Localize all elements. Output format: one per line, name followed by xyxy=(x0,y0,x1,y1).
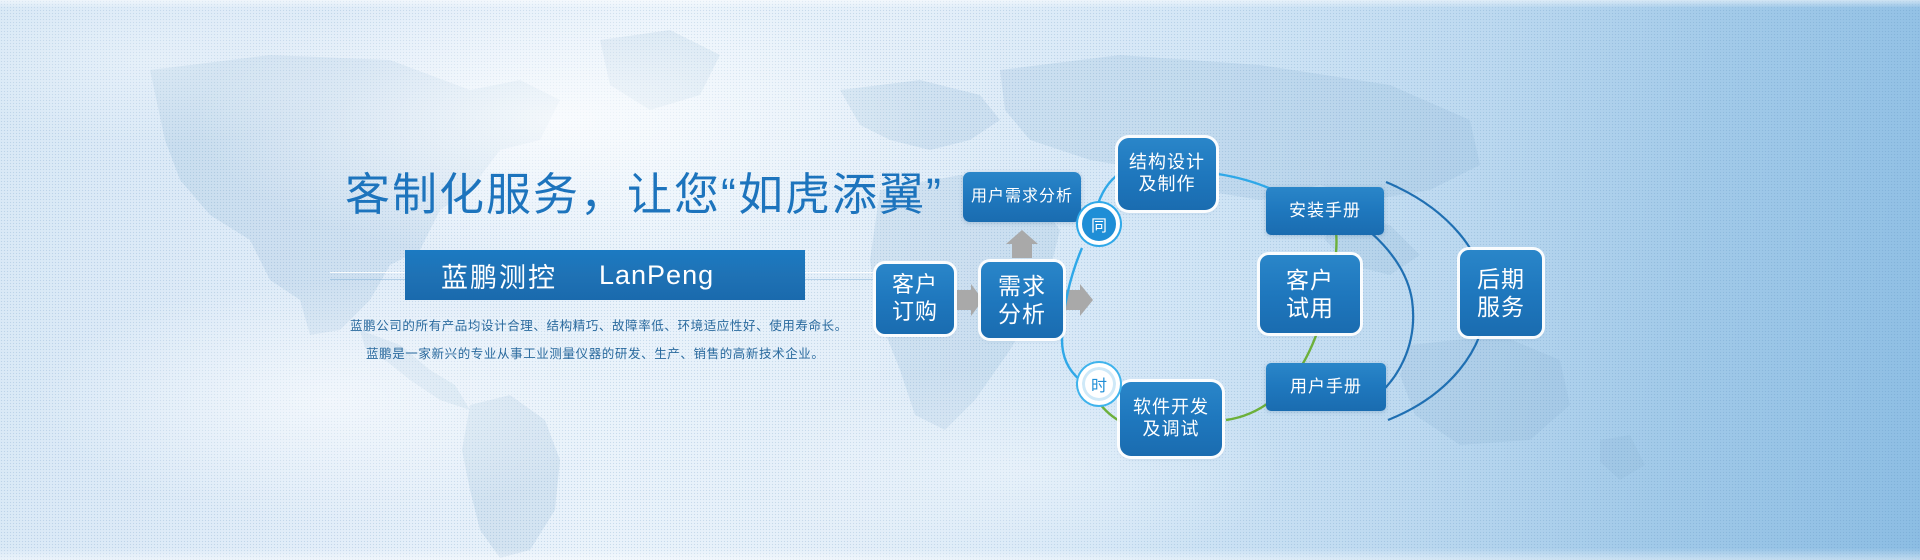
flow-connectors xyxy=(0,0,1920,560)
node-structural-design[interactable]: 结构设计 及制作 xyxy=(1118,138,1216,210)
process-flow-diagram: 用户需求分析 客户 订购 需求 分析 结构设计 及制作 安装手册 客 xyxy=(0,0,1920,560)
node-label: 需求 分析 xyxy=(998,272,1046,328)
node-after-sales-service[interactable]: 后期 服务 xyxy=(1460,250,1542,336)
node-label: 后期 服务 xyxy=(1477,265,1525,321)
node-label: 软件开发 及调试 xyxy=(1133,397,1209,441)
node-label: 结构设计 及制作 xyxy=(1129,152,1205,196)
node-label: 安装手册 xyxy=(1289,201,1361,222)
node-label: 用户手册 xyxy=(1290,377,1362,398)
node-installation-manual[interactable]: 安装手册 xyxy=(1266,187,1384,235)
node-customer-trial[interactable]: 客户 试用 xyxy=(1260,255,1360,333)
node-label: 客户 试用 xyxy=(1286,266,1334,322)
badge-label: 时 xyxy=(1091,372,1107,396)
node-user-requirement-analysis[interactable]: 用户需求分析 xyxy=(963,172,1081,222)
node-software-development[interactable]: 软件开发 及调试 xyxy=(1120,382,1222,456)
node-label: 用户需求分析 xyxy=(971,187,1073,207)
node-customer-order[interactable]: 客户 订购 xyxy=(876,264,954,334)
curve-to-shi xyxy=(1062,340,1080,380)
node-requirement-analysis[interactable]: 需求 分析 xyxy=(981,262,1063,338)
node-label: 客户 订购 xyxy=(892,272,938,326)
node-user-manual[interactable]: 用户手册 xyxy=(1266,363,1386,411)
badge-tong: 同 xyxy=(1078,203,1120,245)
badge-label: 同 xyxy=(1091,212,1107,236)
banner: 客制化服务，让您“如虎添翼” 蓝鹏测控 LanPeng 蓝鹏公司的所有产品均设计… xyxy=(0,0,1920,560)
badge-shi: 时 xyxy=(1078,363,1120,405)
